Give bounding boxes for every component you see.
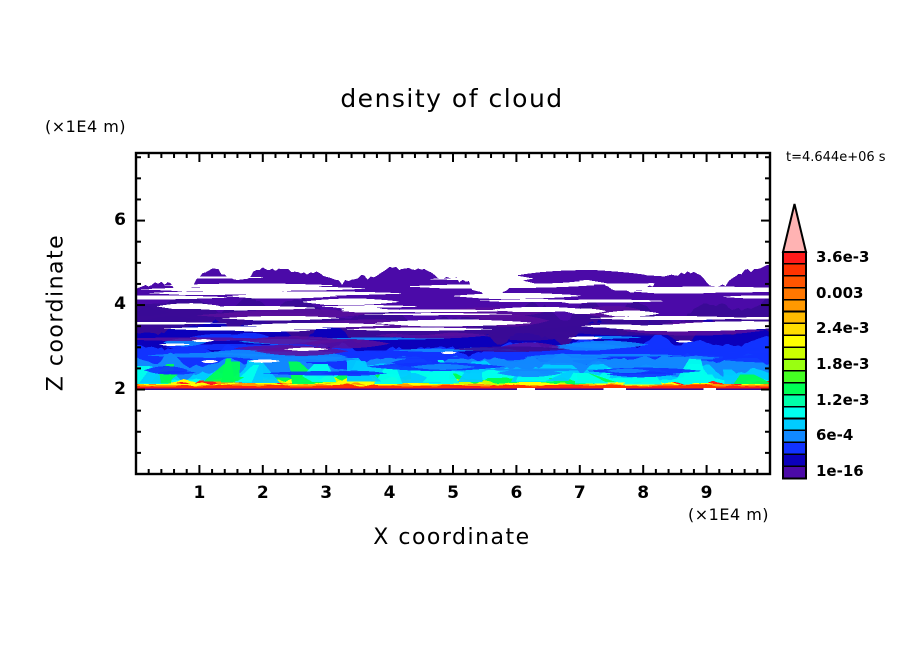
x-tick-label: 1 <box>179 483 219 503</box>
contour-field <box>65 265 818 474</box>
colorbar-band <box>783 311 806 323</box>
x-tick-label: 2 <box>243 483 283 503</box>
contour-band <box>603 388 626 390</box>
colorbar-band <box>783 395 806 407</box>
colorbar-band <box>783 419 806 431</box>
colorbar-band <box>783 371 806 383</box>
colorbar-tick-label: 3.6e-3 <box>816 248 869 266</box>
colorbar-tick-label: 0.003 <box>816 284 863 302</box>
contour-band <box>703 388 716 390</box>
colorbar-tick-label: 2.4e-3 <box>816 319 869 337</box>
y-tick-label: 4 <box>102 294 126 314</box>
colorbar-band <box>783 430 806 442</box>
x-tick-label: 6 <box>496 483 536 503</box>
x-tick-label: 4 <box>370 483 410 503</box>
y-tick-label: 2 <box>102 379 126 399</box>
colorbar-band <box>783 252 806 264</box>
colorbar-band <box>783 264 806 276</box>
plot-area <box>0 0 904 654</box>
colorbar-band <box>783 300 806 312</box>
x-tick-label: 7 <box>560 483 600 503</box>
contour-band <box>136 388 770 390</box>
colorbar-tick-label: 1e-16 <box>816 462 864 480</box>
colorbar-band <box>783 466 806 478</box>
colorbar-tick-label: 6e-4 <box>816 426 853 444</box>
colorbar-band <box>783 383 806 395</box>
x-tick-label: 8 <box>623 483 663 503</box>
colorbar-band <box>783 276 806 288</box>
colorbar-band <box>783 347 806 359</box>
colorbar-band <box>783 288 806 300</box>
colorbar-tick-label: 1.2e-3 <box>816 391 869 409</box>
colorbar-band <box>783 359 806 371</box>
colorbar-band <box>783 407 806 419</box>
y-tick-label: 6 <box>102 210 126 230</box>
x-tick-label: 3 <box>306 483 346 503</box>
colorbar-band <box>783 323 806 335</box>
colorbar-band <box>783 442 806 454</box>
colorbar-over-arrow <box>783 204 806 252</box>
x-tick-label: 5 <box>433 483 473 503</box>
figure-canvas: density of cloud (×1E4 m) t=4.644e+06 s … <box>0 0 904 654</box>
contour-band <box>136 390 770 474</box>
contour-band <box>517 388 535 390</box>
colorbar-band <box>783 454 806 466</box>
colorbar-band <box>783 335 806 347</box>
colorbar <box>783 204 806 479</box>
x-tick-label: 9 <box>687 483 727 503</box>
colorbar-tick-label: 1.8e-3 <box>816 355 869 373</box>
